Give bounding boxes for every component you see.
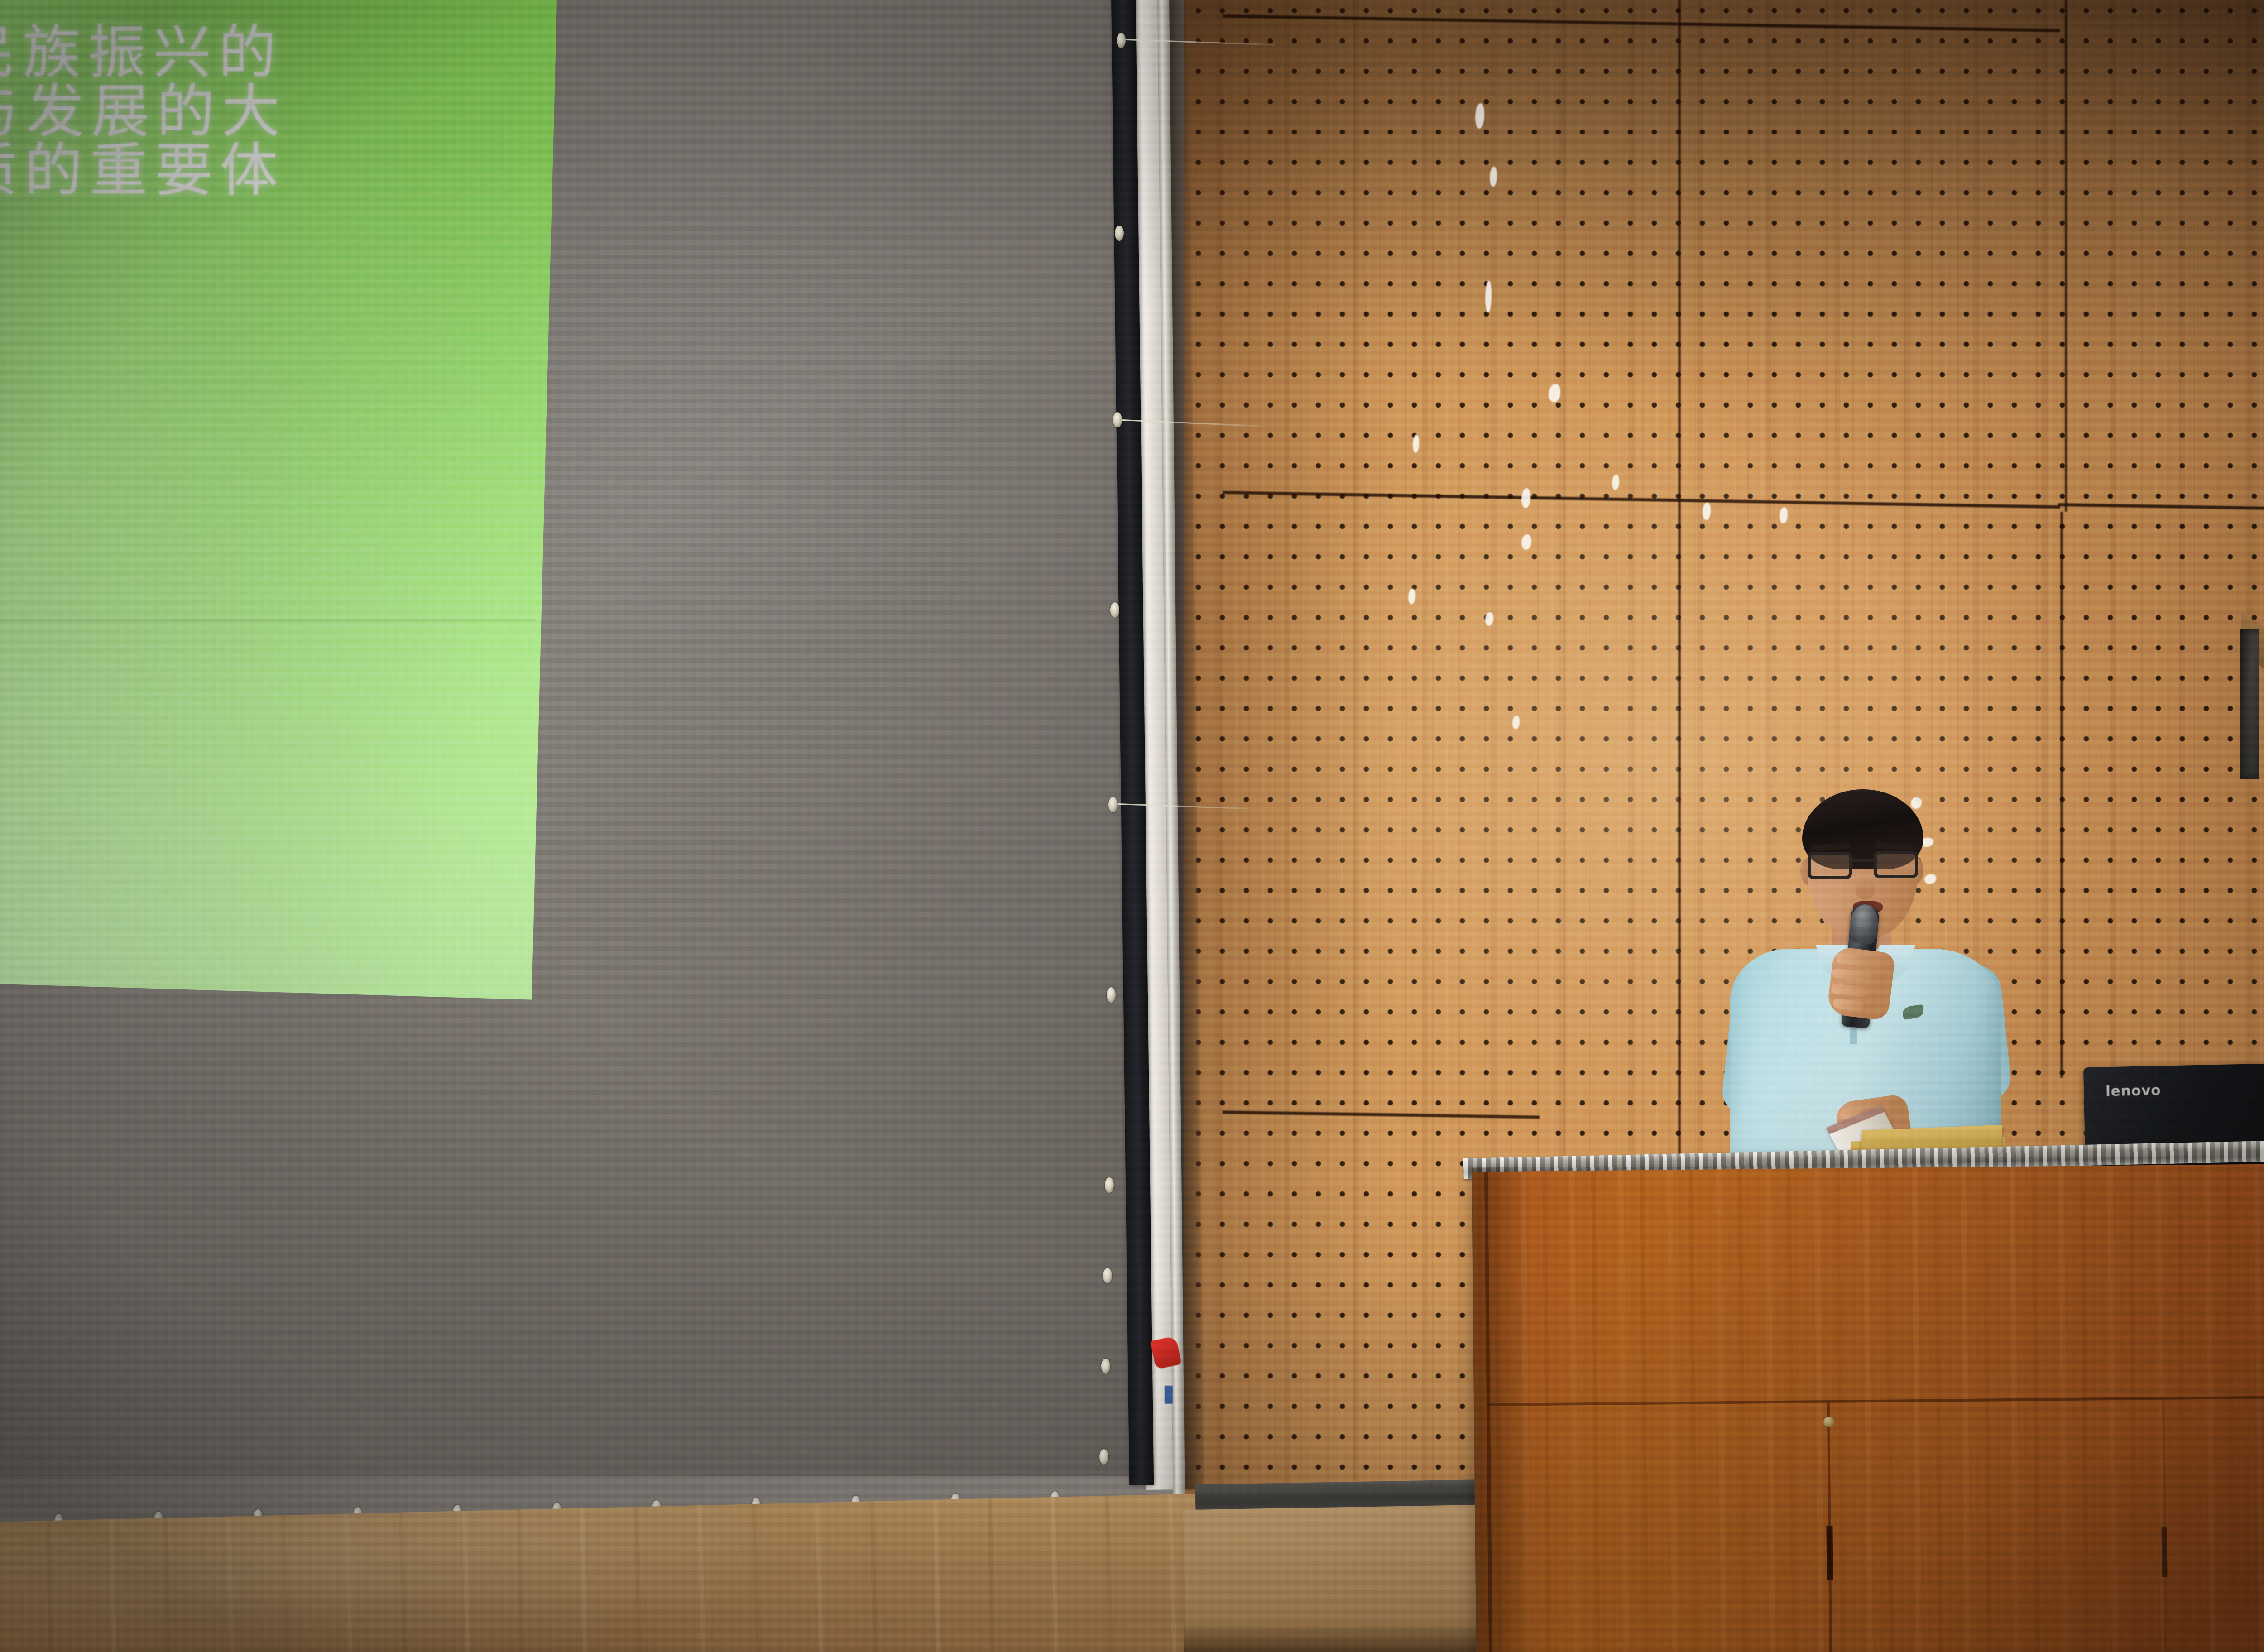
panel-seam-vertical <box>2065 0 2067 512</box>
screen-grommet <box>1103 1268 1112 1283</box>
finger <box>1832 968 1871 982</box>
laptop-brand-logo: lenovo <box>2106 1082 2161 1100</box>
wall-niche-small <box>2240 629 2259 779</box>
podium-door-knob[interactable] <box>1823 1417 1834 1427</box>
screen-grommet <box>1099 1449 1108 1465</box>
podium-door-handle-slot[interactable] <box>1826 1526 1833 1580</box>
screen-fabric-seam <box>0 619 537 621</box>
slide-line-3: 质的重要体 <box>0 123 285 207</box>
panel-seam-vertical <box>1678 0 1681 1164</box>
finger <box>1835 953 1871 967</box>
podium <box>1472 1163 2264 1652</box>
nose <box>1856 878 1875 899</box>
screen-grommet <box>1117 33 1126 48</box>
slide-text-block: 民族振兴的 与发展的大 质的重要体 <box>0 0 542 1010</box>
floor-sheen <box>0 1493 1245 1652</box>
finger <box>1832 998 1864 1012</box>
screen-grommet <box>1113 412 1122 427</box>
screen-grommet <box>1115 226 1124 241</box>
screen-grommet <box>1110 602 1119 618</box>
slide-sheen <box>0 0 557 1010</box>
glasses-bridge <box>1851 859 1875 862</box>
projection-screen: 民族振兴的 与发展的大 质的重要体 <box>0 0 1232 1476</box>
hand-holding-microphone <box>1826 946 1895 1021</box>
screen-grommet <box>1108 797 1118 812</box>
panel-seam-vertical <box>2060 512 2063 1078</box>
podium-left-shadow <box>1472 1167 1535 1652</box>
screen-grommet <box>1105 1177 1114 1193</box>
screen-grommet <box>1107 987 1116 1003</box>
podium-door-handle-slot[interactable] <box>2161 1527 2167 1577</box>
finger <box>1831 983 1868 998</box>
slide-line-2: 与发展的大 <box>0 64 287 148</box>
stage-floor <box>0 1493 1245 1652</box>
glasses-lens-left <box>1808 852 1852 879</box>
projected-slide: 民族振兴的 与发展的大 质的重要体 <box>0 0 557 1010</box>
screen-grommet <box>1101 1359 1110 1374</box>
microphone-head <box>1848 903 1880 945</box>
photo-scene: 民族振兴的 与发展的大 质的重要体 <box>0 0 2264 1652</box>
blue-strap-tab <box>1165 1386 1173 1404</box>
glasses-lens-right <box>1874 851 1918 878</box>
slide-line-1: 民族振兴的 <box>0 5 283 89</box>
podium-grain-texture <box>1472 1163 2264 1652</box>
